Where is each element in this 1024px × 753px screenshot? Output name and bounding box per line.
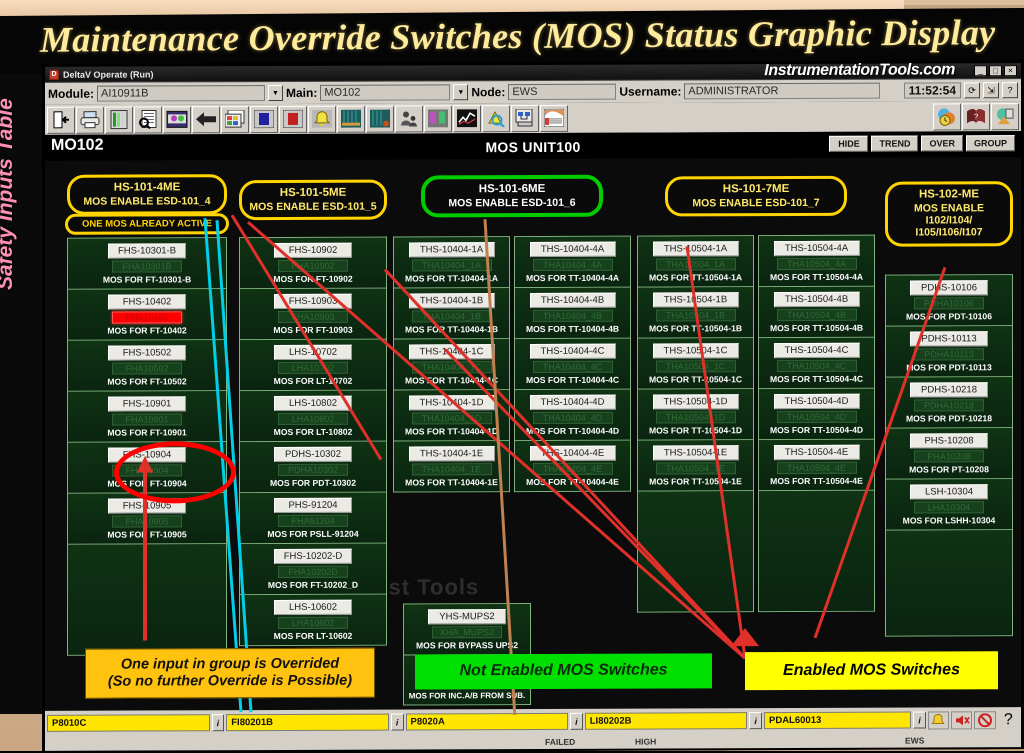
mos-cell[interactable]: PDHS-10218 PDHA10218 MOS FOR PDT-10218 (886, 377, 1012, 428)
mos-description: MOS FOR TT-10504-4A (770, 272, 863, 282)
mute-horn-icon[interactable] (951, 711, 972, 729)
mos-cell[interactable]: THS-10504-1E THA10504_1E MOS FOR TT-1050… (638, 440, 753, 491)
mos-switch-tag[interactable]: PHS-91204 (274, 498, 352, 513)
mos-cell-empty (886, 530, 1012, 635)
mos-description: MOS FOR TT-10404-1B (405, 324, 498, 334)
mos-alarm-tag: FHA10904 (112, 464, 182, 476)
over-button[interactable]: OVER (921, 135, 963, 151)
legend-enabled: Enabled MOS Switches (745, 651, 998, 690)
trend-button[interactable]: TREND (871, 136, 918, 152)
mos-cell[interactable]: THS-10404-4B THA10404_4B MOS FOR TT-1040… (515, 288, 630, 339)
mos-switch-tag[interactable]: FHS-10202-D (274, 549, 352, 564)
mos-cell[interactable]: LHS-10702 LHA10702 MOS FOR LT-10702 (240, 340, 386, 392)
mos-cell[interactable]: THS-10504-1C THA10504_1C MOS FOR TT-1050… (638, 338, 753, 389)
mos-description: MOS FOR LSHH-10304 (903, 515, 996, 525)
mos-cell[interactable]: THS-10404-1A THA10404_1A MOS FOR TT-1040… (394, 237, 509, 288)
mos-cell[interactable]: YHS-MUPS2 XHA_MUPS2 MOS FOR BYPASS UPS2 (404, 604, 530, 655)
toolbar-spacer (569, 116, 932, 117)
unit-bar: MO102 MOS UNIT100 HIDE TREND OVER GROUP (45, 131, 1021, 161)
mos-header-hs-101-6me[interactable]: HS-101-6ME MOS ENABLE ESD-101_6 (421, 175, 603, 218)
mos-switch-tag[interactable]: PDHS-10218 (910, 382, 988, 397)
mos-active-banner: ONE MOS ALREADY ACTIVE (65, 213, 229, 235)
mos-description: MOS FOR TT-10404-1E (405, 477, 498, 487)
mos-description: MOS FOR TT-10504-1A (649, 272, 742, 282)
mos-switch-tag[interactable]: THS-10504-1A (653, 241, 739, 256)
mos-alarm-tag: PDHA10106 (914, 297, 984, 309)
mos-alarm-tag: THA10504_1A (656, 258, 736, 270)
alarm-status-bar: P8010C i FI80201B i P8020A i LI80202B i … (45, 707, 1021, 751)
mos-alarm-tag-active: FHA10402 (112, 311, 182, 323)
mos-cell[interactable]: PDHS-10302 PDHA10302 MOS FOR PDT-10302 (240, 442, 386, 494)
deltav-window: D DeltaV Operate (Run) InstrumentationTo… (45, 63, 1021, 751)
username-label: Username: (619, 84, 681, 98)
mos-cell[interactable]: THS-10504-4A THA10504_4A MOS FOR TT-1050… (759, 236, 874, 287)
mos-alarm-tag: XHA_MUPS2 (432, 626, 502, 638)
mos-switch-tag[interactable]: THS-10504-4E (774, 445, 860, 460)
mos-cell[interactable]: THS-10504-4B THA10504_4B MOS FOR TT-1050… (759, 287, 874, 338)
mos-cell[interactable]: LHS-10602 LHA10602 MOS FOR LT-10602 (240, 595, 386, 646)
mos-switch-tag[interactable]: PDHS-10113 (910, 331, 988, 346)
books-help-icon[interactable]: ? (962, 103, 990, 130)
mos-alarm-tag: THA10404_4C (533, 361, 613, 373)
mos-description: MOS FOR TT-10404-4C (526, 375, 619, 385)
mos-switch-tag[interactable]: FHS-10905 (108, 498, 186, 513)
mos-switch-tag[interactable]: THS-10504-4C (774, 343, 860, 358)
mos-switch-tag[interactable]: PDHS-10302 (274, 447, 352, 462)
main-field[interactable]: MO102 (320, 84, 450, 100)
mos-header-subtitle2: I105/I106/I107 (890, 226, 1008, 239)
mos-switch-tag[interactable]: PHS-10208 (910, 433, 988, 448)
main-dropdown-chevron-down-icon[interactable]: ▼ (453, 84, 468, 100)
mos-switch-tag[interactable]: THS-10504-4D (774, 394, 860, 409)
mos-header-hs-101-4me[interactable]: HS-101-4ME MOS ENABLE ESD-101_4 (67, 174, 227, 215)
alarm-info-icon[interactable]: i (913, 711, 926, 728)
equipment-icon[interactable] (424, 105, 452, 132)
mos-column-hs-101-4me: HS-101-4ME MOS ENABLE ESD-101_4 ONE MOS … (67, 174, 227, 175)
minimize-button[interactable]: _ (974, 65, 987, 76)
mos-description: MOS FOR PDT-10218 (906, 413, 992, 423)
status-high: HIGH (635, 737, 656, 747)
module-field[interactable]: AI10911B (97, 85, 265, 102)
mos-description: MOS FOR LT-10802 (274, 427, 353, 437)
exit-door-icon[interactable] (47, 106, 75, 133)
mos-alarm-tag: THA10404_1D (412, 412, 492, 424)
status-subrow: FAILED HIGH EWS (45, 733, 1021, 751)
graphics-library-icon[interactable] (221, 106, 249, 133)
legend-line1: Not Enabled MOS Switches (459, 662, 667, 682)
enabled-arrow-head (731, 628, 759, 646)
mos-switch-tag[interactable]: FHS-10901 (108, 396, 186, 411)
detail-search-icon[interactable] (134, 106, 162, 133)
mos-switch-tag[interactable]: YHS-MUPS2 (428, 609, 506, 624)
mos-alarm-tag: PDHA10113 (914, 348, 984, 360)
mos-cell[interactable]: FHS-10902 FHA10902 MOS FOR FT-10902 (240, 238, 386, 290)
username-field[interactable]: ADMINISTRATOR (684, 83, 880, 100)
mos-cell[interactable]: THS-10404-4E THA10404_4E MOS FOR TT-1040… (515, 441, 630, 491)
mos-description: MOS FOR FT-10905 (107, 529, 186, 539)
mos-description: MOS FOR FT-10904 (107, 478, 186, 488)
mos-cell[interactable]: FHS-10301-B FHA10301B MOS FOR FT-10301-B (68, 238, 226, 290)
mos-switch-tag[interactable]: THS-10504-1C (653, 343, 739, 358)
mos-alarm-tag: PDHA10218 (914, 399, 984, 411)
alarm-item[interactable]: FI80201B (226, 714, 389, 732)
mos-description: MOS FOR LT-10602 (274, 631, 353, 641)
mos-subcolumn-wrap: THS-10504-1A THA10504_1A MOS FOR TT-1050… (637, 235, 875, 613)
nav-button-group: HIDE TREND OVER GROUP (829, 135, 1015, 152)
mos-description: MOS FOR PT-10208 (909, 464, 989, 474)
mos-cell-empty (68, 544, 226, 655)
mos-switch-tag[interactable]: FHS-10902 (274, 243, 352, 258)
diagnostics-icon[interactable] (482, 105, 510, 132)
status-node: EWS (905, 735, 924, 745)
mos-description: MOS FOR PDT-10106 (906, 311, 992, 321)
legend-one-input-overridden: One input in group is Overrided (So no f… (85, 648, 375, 699)
app-icon: D (49, 69, 59, 79)
mos-cell[interactable]: THS-10504-4E THA10504_4E MOS FOR TT-1050… (759, 440, 874, 491)
trend-icon[interactable] (453, 105, 481, 132)
mos-switch-tag[interactable]: THS-10404-1E (409, 446, 495, 461)
mos-subcolumn-wrap: THS-10404-1A THA10404_1A MOS FOR TT-1040… (393, 236, 631, 493)
mos-header-title: HS-101-7ME (670, 183, 842, 197)
mos-header-subtitle: MOS ENABLE ESD-101_6 (427, 196, 597, 209)
export-icon[interactable]: ⇲ (983, 82, 999, 98)
mos-cell-group: FHS-10902 FHA10902 MOS FOR FT-10902 FHS-… (239, 237, 387, 647)
mos-switch-tag[interactable]: THS-10504-1D (653, 394, 739, 409)
mos-header-title: HS-101-5ME (244, 187, 382, 201)
safety-inputs-table-caption: Safety Inputs Table (0, 98, 18, 290)
mos-switch-tag[interactable]: THS-10504-1B (653, 292, 739, 307)
history-clock-icon[interactable] (933, 103, 961, 130)
mos-cell[interactable]: THS-10404-1B THA10404_1B MOS FOR TT-1040… (394, 288, 509, 339)
mos-description: MOS FOR FT-10402 (107, 325, 186, 335)
mos-cell[interactable]: LSH-10304 LHA10304 MOS FOR LSHH-10304 (886, 479, 1012, 530)
mos-alarm-tag: THA10404_4B (533, 310, 613, 322)
mos-description: MOS FOR FT-10903 (273, 325, 352, 335)
close-button[interactable]: × (1004, 65, 1017, 76)
mos-alarm-tag: FHA10903 (278, 311, 348, 323)
mos-cell-group: THS-10404-1A THA10404_1A MOS FOR TT-1040… (393, 236, 510, 492)
mos-switch-tag[interactable]: THS-10404-4D (530, 395, 616, 410)
mos-description: MOS FOR TT-10404-4A (526, 273, 619, 283)
mos-header-subtitle: MOS ENABLE I102/I104/ (890, 202, 1008, 227)
batch-icon[interactable] (366, 105, 394, 132)
mos-cell[interactable]: THS-10504-4C THA10504_4C MOS FOR TT-1050… (759, 338, 874, 389)
monitor-screen: D DeltaV Operate (Run) InstrumentationTo… (42, 60, 1024, 753)
mos-description: MOS FOR TT-10404-1D (405, 426, 498, 436)
mos-graphic-area: Inst Tools HS-101-4ME MOS ENABLE ESD-101… (45, 157, 1021, 717)
mos-cell-group: THS-10504-4A THA10504_4A MOS FOR TT-1050… (758, 235, 875, 612)
mos-switch-tag[interactable]: LHS-10802 (274, 396, 352, 411)
mos-cell[interactable]: THS-10404-4D THA10404_4D MOS FOR TT-1040… (515, 390, 630, 441)
mos-description: MOS FOR FT-10202_D (268, 580, 358, 590)
mos-cell[interactable]: LHS-10802 LHA10802 MOS FOR LT-10802 (240, 391, 386, 443)
mos-alarm-tag: THA10504_1B (656, 309, 736, 321)
mos-switch-tag[interactable]: FHS-10402 (108, 294, 186, 309)
operator-icon[interactable] (395, 105, 423, 132)
maximize-button[interactable]: □ (989, 65, 1002, 76)
mos-cell-empty (638, 491, 753, 611)
mos-switch-tag[interactable]: THS-10404-4A (530, 242, 616, 257)
page-title: Maintenance Override Switches (MOS) Stat… (40, 11, 995, 61)
module-view-icon[interactable] (163, 106, 191, 133)
mos-column-hs-101-5me: HS-101-5ME MOS ENABLE ESD-101_5 FHS-1090… (239, 174, 387, 175)
mos-alarm-tag: FHA10901 (112, 413, 182, 425)
alarm-item[interactable]: P8020A (406, 713, 569, 731)
alarm-bell-icon[interactable] (928, 711, 949, 729)
mos-description: MOS FOR LT-10702 (274, 376, 353, 386)
mos-description: MOS FOR TT-10504-1D (649, 425, 742, 435)
mos-alarm-tag: PHA91204 (278, 515, 348, 527)
mos-description: MOS FOR TT-10404-4D (526, 426, 619, 436)
help-icon[interactable]: ? (998, 711, 1019, 729)
mos-alarm-tag: THA10404_1A (412, 259, 492, 271)
mos-cell[interactable]: PDHS-10113 PDHA10113 MOS FOR PDT-10113 (886, 326, 1012, 377)
mos-cell[interactable]: THS-10504-1B THA10504_1B MOS FOR TT-1050… (638, 287, 753, 338)
mos-switch-tag[interactable]: LSH-10304 (910, 484, 988, 499)
mos-cell[interactable]: FHS-10903 FHA10903 MOS FOR FT-10903 (240, 289, 386, 341)
mos-header-title: HS-102-ME (890, 188, 1008, 202)
mos-cell[interactable]: THS-10404-4C THA10404_4C MOS FOR TT-1040… (515, 339, 630, 390)
mos-header-subtitle: MOS ENABLE ESD-101_5 (244, 200, 382, 213)
site-watermark: InstrumentationTools.com (764, 61, 955, 80)
mos-description: MOS FOR FT-10902 (273, 274, 352, 284)
mos-alarm-tag: THA10504_4B (777, 309, 857, 321)
window-controls: _ □ × (974, 65, 1017, 76)
node-field[interactable]: EWS (508, 84, 616, 100)
alarm-item[interactable]: LI80202B (585, 712, 748, 730)
mos-column-hs-101-7me: HS-101-7ME MOS ENABLE ESD-101_7 THS-1050… (637, 172, 875, 173)
mos-description: MOS FOR TT-10504-4E (770, 476, 863, 486)
mos-cell-empty (759, 491, 874, 611)
mos-cell[interactable]: FHS-10502 FHA10502 MOS FOR FT-10502 (68, 340, 226, 392)
mos-description: MOS FOR TT-10504-4D (770, 425, 863, 435)
mos-alarm-tag: FHA10301B (112, 260, 182, 272)
about-icon[interactable] (991, 103, 1019, 130)
mos-alarm-tag: THA10404_4A (533, 259, 613, 271)
mos-switch-tag[interactable]: LHS-10602 (274, 600, 352, 615)
red-display-icon[interactable] (279, 105, 307, 132)
mos-description: MOS FOR TT-10504-4B (770, 323, 863, 333)
mos-cell[interactable]: FHS-10202-D FHA10202D MOS FOR FT-10202_D (240, 544, 386, 596)
mos-description: MOS FOR TT-10404-4E (526, 477, 619, 487)
clock: 11:52:54 (904, 82, 961, 98)
svg-text:?: ? (974, 112, 979, 121)
mos-header-hs-102-me[interactable]: HS-102-ME MOS ENABLE I102/I104/ I105/I10… (885, 181, 1013, 246)
alarm-info-icon[interactable]: i (212, 714, 225, 731)
main-toolbar: ? (45, 101, 1021, 135)
mos-header-title: HS-101-6ME (427, 183, 597, 197)
mos-cell[interactable]: THS-10404-4A THA10404_4A MOS FOR TT-1040… (515, 237, 630, 288)
mos-cell[interactable]: THS-10404-1E THA10404_1E MOS FOR TT-1040… (394, 441, 509, 491)
alarm-item[interactable]: P8010C (47, 714, 210, 732)
alarm-bell-icon[interactable] (308, 105, 336, 132)
mos-alarm-tag: PHA10208 (914, 450, 984, 462)
mos-switch-tag[interactable]: THS-10504-1E (653, 445, 739, 460)
faceplate-icon[interactable] (105, 106, 133, 133)
mos-cell[interactable]: THS-10504-1A THA10504_1A MOS FOR TT-1050… (638, 236, 753, 287)
mos-description: MOS FOR TT-10504-1E (649, 476, 742, 486)
mos-switch-tag[interactable]: THS-10404-4C (530, 344, 616, 359)
mos-alarm-tag: LHA10304 (914, 501, 984, 513)
mos-cell[interactable]: PHS-10208 PHA10208 MOS FOR PT-10208 (886, 428, 1012, 479)
mos-cell[interactable]: FHS-10402 FHA10402 MOS FOR FT-10402 (68, 289, 226, 341)
mos-switch-tag[interactable]: THS-10404-1C (409, 344, 495, 359)
mos-alarm-tag: THA10504_4E (777, 462, 857, 474)
mos-description: MOS FOR TT-10504-1B (649, 323, 742, 333)
mos-cell[interactable]: THS-10504-1D THA10504_1D MOS FOR TT-1050… (638, 389, 753, 440)
mos-alarm-tag: THA10504_1E (656, 462, 736, 474)
mos-cell-group: THS-10504-1A THA10504_1A MOS FOR TT-1050… (637, 235, 754, 612)
mos-alarm-tag: THA10404_1E (412, 463, 492, 475)
mos-cell[interactable]: FHS-10901 FHA10901 MOS FOR FT-10901 (68, 391, 226, 443)
mos-switch-tag[interactable]: THS-10504-4A (774, 241, 860, 256)
mos-alarm-tag: THA10504_4D (777, 411, 857, 423)
alarm-info-icon[interactable]: i (570, 713, 583, 730)
mos-column-hs-101-6me: HS-101-6ME MOS ENABLE ESD-101_6 THS-1040… (393, 173, 631, 174)
mos-cell[interactable]: THS-10404-1C THA10404_1C MOS FOR TT-1040… (394, 339, 509, 390)
blue-display-icon[interactable] (250, 105, 278, 132)
help-icon[interactable]: ? (1002, 82, 1018, 98)
mos-alarm-tag: LHA10602 (278, 617, 348, 629)
mos-cell[interactable]: THS-10504-4D THA10504_4D MOS FOR TT-1050… (759, 389, 874, 440)
mos-switch-tag[interactable]: FHS-10903 (274, 294, 352, 309)
mos-alarm-tag: THA10404_4E (533, 463, 613, 475)
legend-line2: (So no further Override is Possible) (108, 673, 352, 691)
window-title: DeltaV Operate (Run) (63, 69, 154, 79)
mos-alarm-tag: THA10504_1C (656, 360, 736, 372)
mos-cell[interactable]: PHS-91204 PHA91204 MOS FOR PSLL-91204 (240, 493, 386, 545)
mos-cell[interactable]: FHS-10905 FHA10905 MOS FOR FT-10905 (68, 493, 226, 545)
mos-switch-tag[interactable]: FHS-10502 (108, 345, 186, 360)
mos-switch-tag[interactable]: THS-10404-4B (530, 293, 616, 308)
mos-alarm-tag: LHA10702 (278, 362, 348, 374)
mos-switch-tag[interactable]: THS-10404-1A (409, 242, 495, 257)
mos-switch-tag[interactable]: THS-10404-1B (409, 293, 495, 308)
mos-switch-tag[interactable]: FHS-10904 (108, 447, 186, 462)
mos-description: MOS FOR TT-10504-1C (649, 374, 742, 384)
mos-alarm-tag: THA10504_4C (777, 360, 857, 372)
mos-description: MOS FOR INC.A/B FROM SUB. (409, 691, 525, 700)
mos-description: MOS FOR PDT-10302 (270, 478, 356, 488)
mos-switch-tag[interactable]: PDHS-10106 (910, 280, 988, 295)
mos-description: MOS FOR FT-10502 (107, 376, 186, 386)
mos-alarm-tag: THA10504_4A (777, 258, 857, 270)
mos-description: MOS FOR PSLL-91204 (267, 529, 358, 539)
mos-alarm-tag: THA10404_4D (533, 412, 613, 424)
mos-cell-group: THS-10404-4A THA10404_4A MOS FOR TT-1040… (514, 236, 631, 492)
legend-line1: Enabled MOS Switches (783, 661, 960, 681)
group-button[interactable]: GROUP (966, 135, 1015, 151)
mos-header-subtitle: MOS ENABLE ESD-101_7 (670, 196, 842, 209)
mos-header-hs-101-5me[interactable]: HS-101-5ME MOS ENABLE ESD-101_5 (239, 180, 387, 221)
legend-line1: One input in group is Overrided (121, 656, 339, 674)
status-failed: FAILED (545, 737, 575, 747)
mos-alarm-tag: FHA10905 (112, 515, 182, 527)
mos-alarm-tag: FHA10202D (278, 566, 348, 578)
module-label: Module: (48, 87, 94, 101)
hide-button[interactable]: HIDE (829, 136, 868, 152)
back-arrow-icon[interactable] (192, 106, 220, 133)
mos-header-hs-101-7me[interactable]: HS-101-7ME MOS ENABLE ESD-101_7 (665, 176, 847, 217)
mos-description: MOS FOR FT-10901 (107, 427, 186, 437)
print-icon[interactable] (76, 106, 104, 133)
process-history-icon[interactable] (337, 105, 365, 132)
mos-cell-group: PDHS-10106 PDHA10106 MOS FOR PDT-10106 P… (885, 274, 1013, 636)
mos-description: MOS FOR TT-10404-1C (405, 375, 498, 385)
mos-description: MOS FOR TT-10504-4C (770, 374, 863, 384)
mos-description: MOS FOR PDT-10113 (906, 362, 992, 372)
mos-switch-tag[interactable]: THS-10404-1D (409, 395, 495, 410)
mos-switch-tag[interactable]: THS-10504-4B (774, 292, 860, 307)
mos-switch-tag[interactable]: LHS-10702 (274, 345, 352, 360)
main-label: Main: (286, 86, 317, 100)
silence-icon[interactable] (974, 711, 995, 729)
refresh-icon[interactable]: ⟳ (964, 82, 980, 98)
mos-cell[interactable]: FHS-10904 FHA10904 MOS FOR FT-10904 (68, 442, 226, 494)
alarm-item[interactable]: PDAL60013 (764, 712, 911, 730)
mos-description: MOS FOR TT-10404-1A (405, 273, 498, 283)
mos-cell-group: FHS-10301-B FHA10301B MOS FOR FT-10301-B… (67, 237, 227, 656)
mos-cell[interactable]: THS-10404-1D THA10404_1D MOS FOR TT-1040… (394, 390, 509, 441)
mos-switch-tag[interactable]: FHS-10301-B (108, 243, 186, 258)
mos-switch-tag[interactable]: THS-10404-4E (530, 446, 616, 461)
legend-not-enabled: Not Enabled MOS Switches (415, 653, 712, 689)
alarm-info-icon[interactable]: i (391, 713, 404, 730)
node-label: Node: (471, 85, 505, 99)
mos-description: MOS FOR FT-10301-B (103, 274, 191, 284)
mos-description: MOS FOR BYPASS UPS2 (416, 640, 518, 650)
mos-alarm-tag: FHA10502 (112, 362, 182, 374)
alarm-info-icon[interactable]: i (749, 712, 762, 729)
mos-alarm-tag: THA10404_1B (412, 310, 492, 322)
mos-header-title: HS-101-4ME (72, 181, 222, 195)
mos-header-subtitle: MOS ENABLE ESD-101_4 (72, 195, 222, 208)
mos-alarm-tag: THA10504_1D (656, 411, 736, 423)
report-icon[interactable] (540, 104, 568, 131)
module-dropdown-chevron-down-icon[interactable]: ▼ (268, 85, 283, 101)
mos-alarm-tag: LHA10802 (278, 413, 348, 425)
network-icon[interactable] (511, 104, 539, 131)
mos-alarm-tag: PDHA10302 (278, 464, 348, 476)
mos-cell[interactable]: PDHS-10106 PDHA10106 MOS FOR PDT-10106 (886, 275, 1012, 326)
mos-alarm-tag: THA10404_1C (412, 361, 492, 373)
mos-alarm-tag: FHA10902 (278, 260, 348, 272)
mos-description: MOS FOR TT-10404-4B (526, 324, 619, 334)
